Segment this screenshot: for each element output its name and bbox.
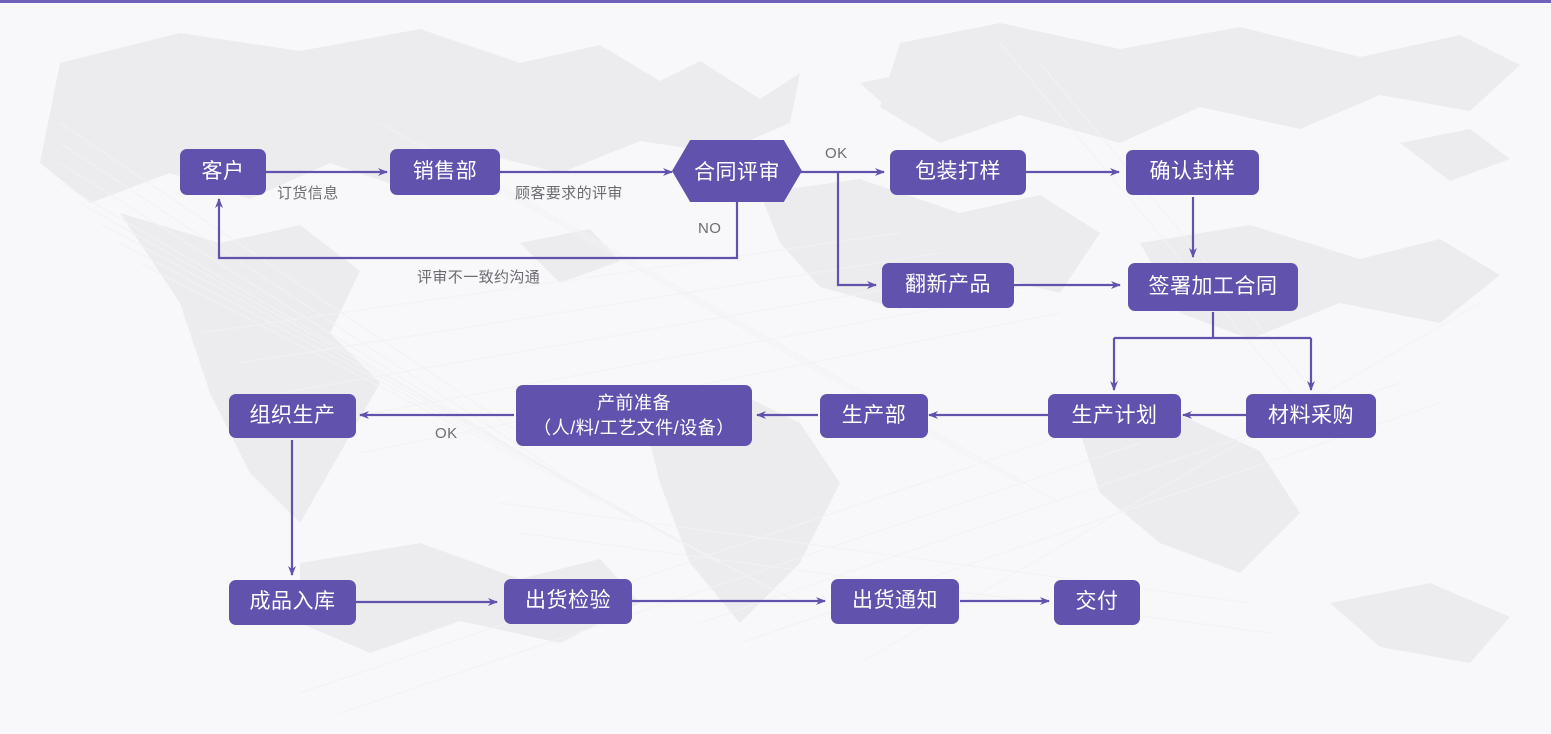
node-label: 组织生产 — [250, 404, 336, 429]
node-shipment-inspection[interactable]: 出货检验 — [504, 579, 632, 624]
node-sublabel: （人/料/工艺文件/设备） — [533, 416, 735, 440]
edge-label-customer-requirement-review: 顾客要求的评审 — [515, 182, 623, 203]
node-label: 合同评审 — [694, 156, 780, 186]
node-sales-dept[interactable]: 销售部 — [390, 149, 500, 195]
edge-label-text: OK — [825, 145, 847, 162]
node-pre-production-prep[interactable]: 产前准备 （人/料/工艺文件/设备） — [516, 385, 752, 446]
node-label: 出货通知 — [852, 589, 938, 614]
node-customer[interactable]: 客户 — [180, 149, 266, 195]
node-label: 材料采购 — [1268, 404, 1354, 429]
node-label: 交付 — [1076, 590, 1119, 615]
node-sign-processing-contract[interactable]: 签署加工合同 — [1128, 263, 1298, 311]
node-label: 成品入库 — [250, 590, 336, 615]
node-finished-goods-warehouse[interactable]: 成品入库 — [229, 580, 356, 625]
edge-label-text: 订货信息 — [277, 185, 339, 202]
node-confirm-seal-sample[interactable]: 确认封样 — [1126, 150, 1259, 195]
node-refurbish-product[interactable]: 翻新产品 — [882, 263, 1014, 308]
node-label: 包装打样 — [915, 160, 1001, 185]
node-production-plan[interactable]: 生产计划 — [1048, 394, 1181, 438]
edge-label-no-branch: NO — [698, 220, 721, 237]
node-label: 生产计划 — [1072, 404, 1158, 429]
node-contract-review[interactable]: 合同评审 — [672, 140, 802, 202]
node-label: 签署加工合同 — [1149, 275, 1278, 300]
node-delivery[interactable]: 交付 — [1054, 580, 1140, 625]
flowchart-canvas: 客户 销售部 合同评审 包装打样 确认封样 翻新产品 签署加工合同 生产计划 材… — [0, 0, 1551, 734]
node-shipment-notice[interactable]: 出货通知 — [831, 579, 959, 624]
node-label: 客户 — [202, 160, 245, 185]
node-label: 生产部 — [842, 404, 907, 429]
node-organize-production[interactable]: 组织生产 — [229, 394, 356, 438]
edge-label-text: 评审不一致约沟通 — [417, 269, 540, 286]
edge-label-text: 顾客要求的评审 — [515, 185, 623, 202]
node-label: 确认封样 — [1150, 160, 1236, 185]
node-material-purchase[interactable]: 材料采购 — [1246, 394, 1376, 438]
node-label: 出货检验 — [525, 589, 611, 614]
edge-label-ok-preproduction: OK — [435, 425, 457, 442]
edge-label-text: NO — [698, 220, 721, 237]
edge-label-order-info: 订货信息 — [277, 182, 339, 203]
top-accent-rule — [0, 0, 1551, 3]
edge-label-review-mismatch: 评审不一致约沟通 — [417, 266, 540, 287]
edge-label-text: OK — [435, 425, 457, 442]
node-label: 产前准备 — [597, 391, 671, 415]
node-label: 销售部 — [413, 160, 478, 185]
edge-label-ok-branch: OK — [825, 145, 847, 162]
node-packaging-sample[interactable]: 包装打样 — [890, 150, 1026, 195]
node-label: 翻新产品 — [905, 273, 991, 298]
node-production-dept[interactable]: 生产部 — [820, 394, 928, 438]
